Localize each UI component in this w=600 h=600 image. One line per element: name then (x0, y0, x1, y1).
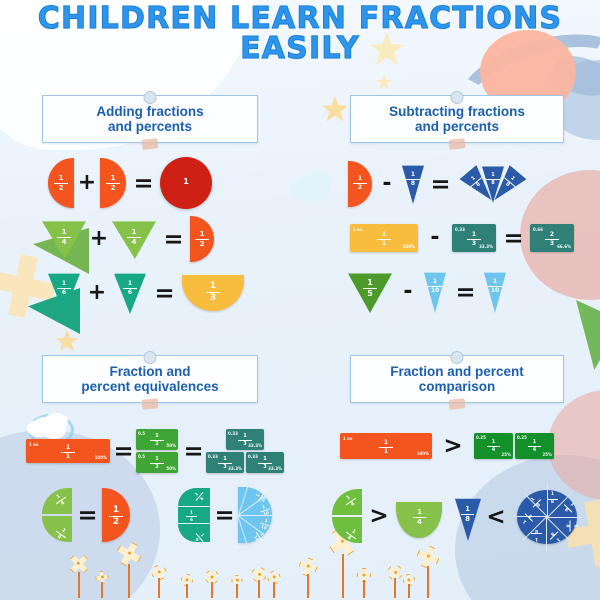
corner-label-cmp-br-2: 25% (542, 452, 552, 457)
fraction-shape-half-result: 1 2 (190, 216, 214, 262)
operator-plus-1: + (74, 172, 100, 194)
panel-subtracting-heading-line1: Subtracting fractions (355, 104, 559, 119)
flower-icon (182, 574, 192, 598)
flower-stem-icon (128, 564, 130, 598)
label-half-tile-2: 1 2 (150, 457, 164, 470)
corner-label-half-br-1: 50% (166, 443, 176, 448)
panel-equivalences-heading-line2: percent equivalences (47, 379, 253, 394)
flower-center-icon (156, 570, 160, 574)
corner-label-cmp-bar-tl: 1 ex (343, 436, 352, 441)
subtracting-row-half-minus-eighth: 1 2 - 1 8 = 1 8 1 (348, 158, 578, 210)
label-half-left: 1 2 (54, 175, 68, 192)
corner-label-br-2: 33.3% (479, 244, 493, 249)
panel-comparison-heading-line2: comparison (355, 379, 559, 394)
flower-stem-icon (342, 554, 344, 598)
label-tile-whole: 1 1 (377, 232, 391, 247)
flower-stem-icon (408, 584, 410, 598)
flower-icon (418, 546, 438, 598)
flower-stem-icon (363, 580, 365, 598)
label-fan-eighth-3: 1 8 (565, 521, 577, 532)
label-half-minuend: 1 2 (353, 176, 367, 191)
tile-third-teal: 0.33 1 3 33.3% (452, 224, 496, 252)
label-cmp-bar: 1 1 (379, 440, 393, 455)
corner-label-bar-br: 100% (95, 455, 107, 460)
tile-cmp-2: 0.25 1 4 25% (515, 433, 554, 459)
tile-third-3: 0.33 1 3 33.3% (246, 452, 284, 473)
fraction-shape-third-result: 1 3 (182, 275, 244, 311)
tile-two-thirds-teal: 0.66 2 3 66.6% (530, 224, 574, 252)
fraction-shape-sixth-b: 1 6 (178, 507, 210, 523)
tile-half-1: 0.5 1 2 50% (136, 429, 178, 450)
label-cmp-tile-2: 1 4 (528, 440, 541, 453)
operator-greater-1: > (432, 435, 474, 457)
adding-row-sixth-plus-sixth: 1 6 + 1 6 = 1 3 (48, 268, 273, 318)
pin-icon (451, 351, 464, 364)
flower-stem-icon (258, 580, 260, 598)
panel-adding-heading-line2: and percents (47, 119, 253, 134)
fraction-shape-tenth-2: 1 10 (484, 271, 506, 313)
comparison-row-whole-vs-tiles: 1 ex 1 1 100% > 0.25 1 4 25% 0.25 1 4 (340, 430, 580, 462)
group-two-halves: 0.5 1 2 50% 0.5 1 2 50% (136, 429, 180, 473)
page-title: CHILDREN LEARN FRACTIONS EASILY (0, 4, 600, 64)
label-sixth-left: 1 6 (57, 281, 71, 296)
label-tenth-2: 1 10 (488, 279, 502, 294)
label-cmp-tile-1: 1 4 (487, 440, 500, 453)
label-half-eq: 1 2 (109, 506, 123, 527)
panel-equivalences: Fraction and percent equivalences (42, 355, 258, 403)
operator-plus-3: + (80, 282, 114, 304)
operator-equals-4: = (424, 173, 456, 195)
fraction-shape-eighth-blue: 1 8 (402, 164, 424, 204)
operator-equals-9: = (72, 504, 102, 526)
operator-greater-2: > (362, 505, 396, 527)
panel-comparison: Fraction and percent comparison (350, 355, 564, 403)
flower-center-icon (76, 561, 80, 565)
flower-stem-icon (307, 574, 309, 598)
flower-center-icon (235, 579, 238, 582)
corner-label-br-3: 66.6% (557, 244, 571, 249)
corner-label-cmp-tl-2: 0.25 (517, 435, 527, 440)
fraction-shape-half-left: 1 2 (48, 158, 74, 208)
panel-subtracting: Subtracting fractions and percents (350, 95, 564, 143)
label-quarter-left: 1 4 (57, 229, 71, 246)
operator-equals-10: = (210, 504, 238, 526)
corner-label-cmp-br-1: 25% (501, 452, 511, 457)
tape-icon (449, 398, 466, 410)
label-sixth-b: 1 6 (186, 511, 197, 522)
cloud-icon (296, 176, 322, 196)
flower-stem-icon (236, 584, 238, 598)
flower-center-icon (306, 565, 310, 569)
flower-icon (252, 567, 265, 598)
bar-whole-orange-cmp: 1 ex 1 1 100% (340, 433, 432, 459)
flower-stem-icon (273, 582, 275, 598)
panel-subtracting-heading-line2: and percents (355, 119, 559, 134)
tape-icon (142, 138, 159, 150)
flower-icon (206, 570, 218, 598)
fraction-shape-quarter-cmp-bottom: 1 4 (332, 517, 362, 543)
tile-whole-yellow: 1 ex 1 1 100% (350, 224, 418, 252)
flower-center-icon (271, 575, 275, 579)
tape-icon (449, 138, 466, 150)
operator-minus-1: - (372, 173, 402, 195)
comparison-row-quarters: 1 4 1 4 > 1 4 (332, 488, 452, 544)
label-sixth-right: 1 6 (123, 281, 137, 296)
flower-icon (358, 568, 370, 598)
flower-center-icon (426, 554, 430, 558)
pin-icon (144, 351, 157, 364)
fraction-shape-quarter-left: 1 4 (42, 219, 86, 259)
fraction-shape-quarter-bottom: 1 4 (42, 516, 72, 542)
flower-center-icon (393, 570, 397, 574)
group-eighths-fan: 1 8 1 8 1 8 1 8 1 8 1 8 (511, 488, 583, 546)
panel-comparison-header: Fraction and percent comparison (350, 355, 564, 403)
flower-icon (388, 565, 401, 598)
fraction-shape-half-right: 1 2 (100, 158, 126, 208)
label-third-result: 1 3 (206, 282, 220, 303)
tape-icon (142, 398, 159, 410)
bar-whole-orange: 1 ex 1 1 100% (26, 439, 110, 463)
label-eighth-single: 1 8 (461, 506, 474, 523)
panel-subtracting-header: Subtracting fractions and percents (350, 95, 564, 143)
tile-third-1: 0.33 1 3 33.3% (226, 429, 264, 450)
subtracting-row-fifth-minus-tenth: 1 5 - 1 10 = 1 10 (348, 268, 578, 316)
fraction-shape-half-orange: 1 2 (348, 161, 372, 207)
comparison-row-eighths: 1 8 < 1 8 1 8 1 8 (455, 488, 595, 546)
panel-comparison-heading-line1: Fraction and percent (355, 364, 559, 379)
fraction-shape-quarter-right: 1 4 (112, 219, 156, 259)
label-fifth: 1 5 (363, 279, 377, 298)
label-fan-eighth-5: 1 8 (531, 528, 542, 540)
operator-minus-3: - (392, 281, 424, 303)
flower-stem-icon (186, 584, 188, 598)
fraction-shape-tenth-1: 1 10 (424, 271, 446, 313)
label-half-result: 1 2 (195, 231, 209, 248)
label-whole: 1 (160, 177, 212, 186)
fraction-shape-quarter-cmp-right: 1 4 (396, 502, 442, 538)
fraction-shape-half-orange-eq: 1 2 (102, 488, 130, 542)
pin-icon (144, 91, 157, 104)
star-icon-sun (322, 96, 348, 122)
star-icon-small (376, 74, 392, 90)
star-icon-sun-lower (56, 330, 78, 352)
label-quarter-right: 1 4 (127, 229, 141, 246)
corner-label-third-br-1: 33.3% (248, 443, 262, 448)
pin-icon (451, 91, 464, 104)
flower-center-icon (362, 573, 365, 576)
label-half-right: 1 2 (106, 175, 120, 192)
flower-stem-icon (427, 566, 429, 598)
operator-less-1: < (481, 506, 511, 528)
subtracting-row-tiles: 1 ex 1 1 100% - 0.33 1 3 33.3% = 0.66 2 … (350, 220, 580, 256)
title-line-1: CHILDREN LEARN FRACTIONS (0, 4, 600, 34)
flower-stem-icon (78, 572, 80, 598)
corner-label-third-tl-3: 0.33 (248, 454, 258, 459)
label-eighth-subtrahend: 1 8 (406, 172, 420, 187)
flower-center-icon (185, 578, 189, 582)
flower-icon (404, 574, 414, 598)
operator-equals-2: = (156, 228, 190, 250)
label-half-tile-1: 1 2 (150, 434, 164, 447)
label-fan-eighth-1: 1 8 (547, 493, 558, 505)
tile-half-2: 0.5 1 2 50% (136, 452, 178, 473)
flower-icon (268, 571, 279, 598)
flower-center-icon (257, 572, 261, 576)
flower-stem-icon (394, 578, 396, 598)
corner-label-cmp-tl-1: 0.25 (476, 435, 486, 440)
operator-equals-8: = (180, 440, 206, 462)
equivalences-row-whole-halves-thirds: 1 ex 1 1 100% = 0.5 1 2 50% 0.5 1 2 (26, 428, 316, 474)
operator-plus-2: + (86, 228, 112, 250)
flower-icon (232, 575, 241, 598)
operator-equals-5: = (496, 227, 530, 249)
group-three-thirds: 0.33 1 3 33.3% 0.33 1 3 33.3% 0.33 1 (206, 429, 284, 473)
corner-label-cmp-bar-br: 100% (417, 451, 429, 456)
flower-stem-icon (158, 578, 160, 598)
operator-equals-3: = (146, 282, 182, 304)
group-two-quarters-green: 1 4 1 4 (42, 488, 72, 542)
group-two-green-tiles: 0.25 1 4 25% 0.25 1 4 25% (474, 433, 554, 459)
fraction-shape-quarter-top: 1 4 (42, 488, 72, 514)
flower-icon (70, 554, 88, 598)
corner-label-half-tl-1: 0.5 (138, 431, 145, 436)
title-line-2: EASILY (0, 34, 600, 64)
corner-label-br-1: 100% (403, 244, 415, 249)
flower-center-icon (210, 575, 214, 579)
flower-icon (96, 571, 107, 598)
group-two-quarters-cmp: 1 4 1 4 (332, 489, 362, 543)
tile-cmp-1: 0.25 1 4 25% (474, 433, 513, 459)
equivalences-row-quarters-equal-half: 1 4 1 4 = 1 2 (42, 487, 172, 543)
fraction-shape-fifth-green: 1 5 (348, 271, 392, 313)
adding-row-half-plus-half: 1 2 + 1 2 = 1 (48, 155, 263, 211)
fraction-group-three-eighths: 1 8 1 8 1 8 (456, 161, 530, 207)
corner-label-tl-3: 0.66 (533, 227, 543, 232)
flower-icon (152, 565, 165, 598)
corner-label-bar-tl: 1 ex (29, 442, 38, 447)
flower-center-icon (407, 578, 411, 582)
leaf-icon-right (576, 300, 600, 370)
adding-row-quarter-plus-quarter: 1 4 + 1 4 = 1 2 (42, 216, 267, 262)
operator-equals-1: = (126, 172, 160, 194)
flower-center-icon (100, 575, 103, 578)
corner-label-tl-2: 0.33 (455, 227, 465, 232)
corner-label-half-br-2: 50% (166, 466, 176, 471)
corner-label-third-br-2: 33.3% (228, 466, 242, 471)
fraction-shape-eighth-single: 1 8 (455, 497, 481, 541)
fraction-shape-sixth-c: 1 6 (178, 524, 210, 542)
operator-equals-6: = (446, 281, 484, 303)
flower-stem-icon (101, 582, 103, 598)
corner-label-half-tl-2: 0.5 (138, 454, 145, 459)
panel-adding-heading-line1: Adding fractions (47, 104, 253, 119)
corner-label-tl-1: 1 ex (353, 227, 362, 232)
tile-third-2: 0.33 1 3 33.3% (206, 452, 244, 473)
fraction-shape-whole-circle: 1 (160, 157, 212, 209)
corner-label-third-tl-2: 0.33 (208, 454, 218, 459)
label-bar-whole: 1 1 (61, 445, 75, 460)
group-tenths-fan-light-blue: 1 10 1 10 1 10 1 10 (238, 487, 272, 543)
operator-equals-7: = (110, 440, 136, 462)
corner-label-third-br-3: 33.3% (268, 466, 282, 471)
poster-canvas: CHILDREN LEARN FRACTIONS EASILY Adding f… (0, 0, 600, 600)
panel-equivalences-heading-line1: Fraction and (47, 364, 253, 379)
label-tenth-1: 1 10 (428, 279, 442, 294)
group-three-sixths-teal: 1 6 1 6 1 6 (178, 488, 210, 542)
panel-adding: Adding fractions and percents (42, 95, 258, 143)
flower-stem-icon (211, 582, 213, 598)
flower-icon (118, 542, 140, 598)
fraction-shape-quarter-cmp-top: 1 4 (332, 489, 362, 515)
panel-adding-header: Adding fractions and percents (42, 95, 258, 143)
fraction-shape-sixth-right: 1 6 (114, 272, 146, 314)
operator-minus-2: - (418, 227, 452, 249)
panel-equivalences-header: Fraction and percent equivalences (42, 355, 258, 403)
flower-center-icon (127, 551, 131, 555)
corner-label-third-tl-1: 0.33 (228, 431, 238, 436)
label-quarter-cmp-right: 1 4 (413, 509, 426, 526)
fraction-shape-sixth-left: 1 6 (48, 272, 80, 314)
equivalences-row-sixths-equal-tenths: 1 6 1 6 1 6 = (178, 487, 318, 543)
fraction-shape-sixth-a: 1 6 (178, 488, 210, 506)
flower-icon (300, 558, 316, 598)
